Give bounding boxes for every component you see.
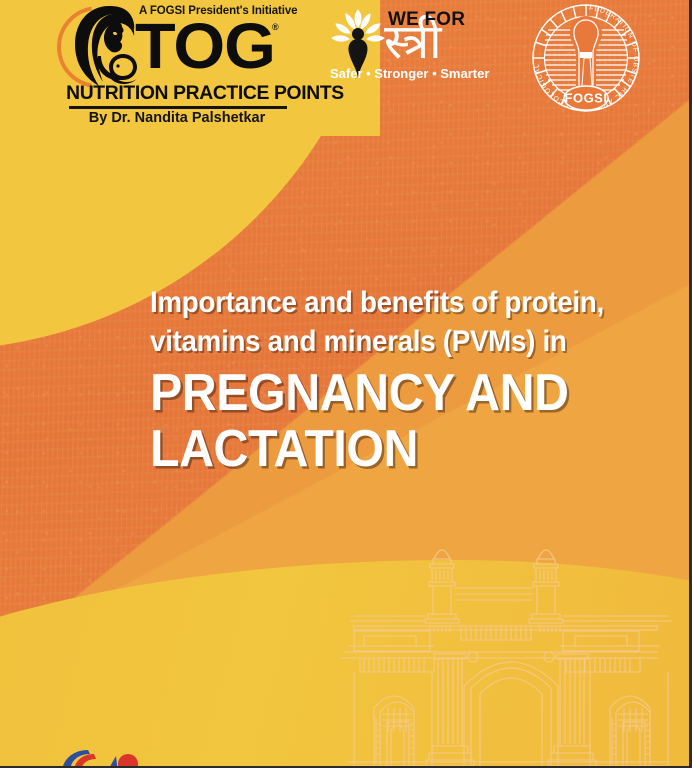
svg-text:FOGSI: FOGSI <box>565 91 608 106</box>
header-logos: A FOGSI President's Initiative TOG ® NUT… <box>0 0 692 140</box>
title-line-2: vitamins and minerals (PVMs) in <box>150 322 620 361</box>
title-line-1: Importance and benefits of protein, <box>150 283 620 322</box>
tog-author-credit: By Dr. Nandita Palshetkar <box>65 110 289 126</box>
page-title: Importance and benefits of protein, vita… <box>150 283 650 477</box>
tog-subtitle: NUTRITION PRACTICE POINTS <box>66 82 288 105</box>
tog-divider-rule <box>69 106 287 109</box>
title-line-3: PREGNANCY AND <box>150 365 615 421</box>
tog-wordmark: TOG <box>135 14 275 78</box>
stree-tagline: Safer • Stronger • Smarter <box>330 66 475 81</box>
tog-registered-mark: ® <box>272 22 279 32</box>
we-for-stree-logo[interactable]: स्त्री WE FOR Safer • Stronger • Smarter <box>330 4 475 86</box>
gateway-of-india-illustration <box>330 528 692 766</box>
we-for-text: WE FOR <box>388 9 465 31</box>
mother-and-child-icon <box>65 2 145 90</box>
title-line-4: LACTATION <box>150 421 615 477</box>
tog-logo[interactable]: A FOGSI President's Initiative TOG ® NUT… <box>57 2 289 128</box>
fogsi-seal-icon[interactable]: FEDERATION OF OBSTETRIC AND GYNAECOLOGIC… <box>522 0 650 122</box>
partner-logo-partial[interactable] <box>58 742 178 768</box>
book-cover: A FOGSI President's Initiative TOG ® NUT… <box>0 0 692 768</box>
